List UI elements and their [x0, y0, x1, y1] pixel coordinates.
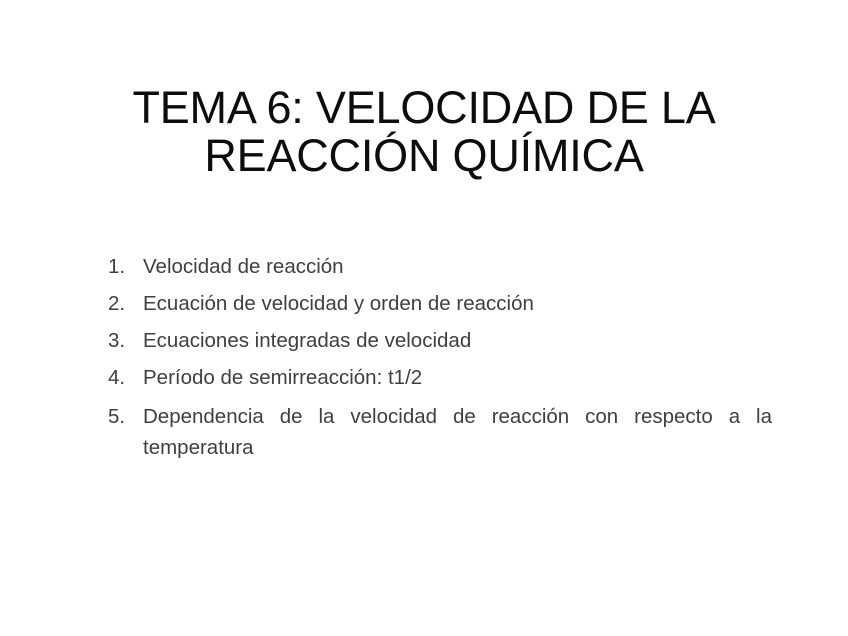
- list-item-label: Ecuación de velocidad y orden de reacció…: [143, 285, 772, 322]
- list-item-number: 3.: [108, 322, 138, 359]
- list-item-number: 4.: [108, 359, 138, 396]
- slide-title-line-2: REACCIÓN QUÍMICA: [64, 132, 784, 180]
- slide-content-list: 1. Velocidad de reacción 2. Ecuación de …: [108, 248, 772, 463]
- list-item-number: 2.: [108, 285, 138, 322]
- slide-title-line-1: TEMA 6: VELOCIDAD DE LA: [64, 84, 784, 132]
- list-item-number: 5.: [108, 396, 138, 432]
- list-item: 5. Dependencia de la velocidad de reacci…: [108, 396, 772, 463]
- presentation-slide: TEMA 6: VELOCIDAD DE LA REACCIÓN QUÍMICA…: [0, 0, 848, 636]
- list-item: 2. Ecuación de velocidad y orden de reac…: [108, 285, 772, 322]
- list-item: 3. Ecuaciones integradas de velocidad: [108, 322, 772, 359]
- list-item-label: Período de semirreacción: t1/2: [143, 359, 772, 396]
- list-item-label: Velocidad de reacción: [143, 248, 772, 285]
- list-item-label: Ecuaciones integradas de velocidad: [143, 322, 772, 359]
- list-item-label: Dependencia de la velocidad de reacción …: [143, 401, 772, 463]
- list-item: 1. Velocidad de reacción: [108, 248, 772, 285]
- slide-title: TEMA 6: VELOCIDAD DE LA REACCIÓN QUÍMICA: [64, 84, 784, 180]
- list-item: 4. Período de semirreacción: t1/2: [108, 359, 772, 396]
- list-item-number: 1.: [108, 248, 138, 285]
